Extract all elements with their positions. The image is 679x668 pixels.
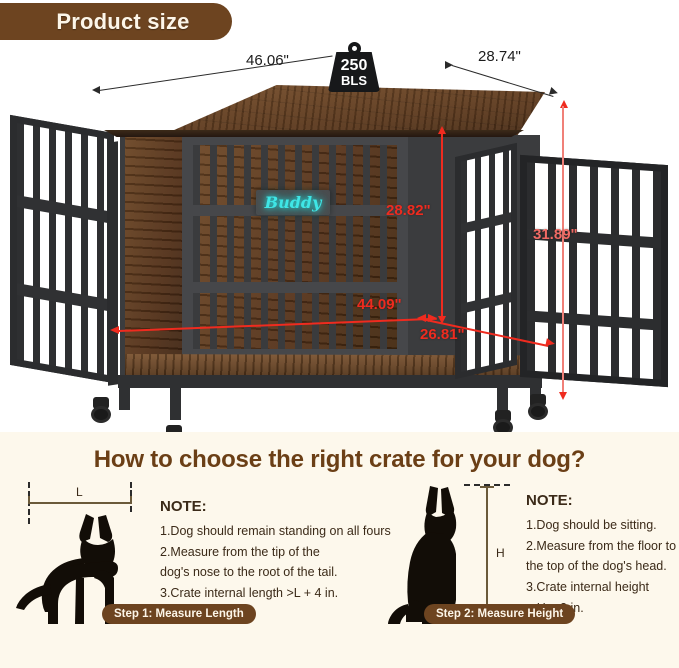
overall-height-label: 31.89" bbox=[533, 226, 578, 243]
interior-depth-label: 26.81" bbox=[420, 326, 465, 343]
product-infographic: Product size Buddy bbox=[0, 0, 679, 668]
door-bars bbox=[461, 150, 511, 372]
note-line: dog's nose to the root of the tail. bbox=[160, 562, 391, 583]
weight-value: 250 bbox=[341, 58, 368, 74]
interior-wood-panel-left bbox=[125, 137, 187, 374]
height-brace-cap-top bbox=[480, 486, 494, 488]
step-2-pill: Step 2: Measure Height bbox=[424, 604, 575, 624]
step-1-panel: L NOTE: 1.Dog should remain standing on … bbox=[8, 480, 358, 630]
nameplate-text: Buddy bbox=[265, 193, 322, 212]
step-2-label: Step 2: Measure Height bbox=[436, 608, 563, 620]
length-brace-cap-left bbox=[28, 496, 30, 504]
how-to-choose-title: How to choose the right crate for your d… bbox=[0, 446, 679, 474]
step-1-note: NOTE: 1.Dog should remain standing on al… bbox=[160, 498, 391, 604]
wood-tabletop bbox=[90, 85, 545, 135]
right-inner-open-door bbox=[455, 143, 517, 379]
step-2-note: NOTE: 1.Dog should be sitting. 2.Measure… bbox=[526, 492, 676, 618]
weight-capacity-icon: 250 BLS bbox=[326, 42, 382, 92]
interior-height-label: 28.82" bbox=[386, 202, 431, 219]
how-to-choose-section: How to choose the right crate for your d… bbox=[0, 432, 679, 668]
product-size-ribbon: Product size bbox=[0, 3, 232, 40]
width-dimension-label: 46.06" bbox=[246, 52, 289, 69]
step-2-panel: H NOTE: 1.Dog should be sitting. 2.Measu… bbox=[378, 480, 678, 630]
length-letter: L bbox=[76, 485, 83, 499]
weight-body: 250 BLS bbox=[328, 52, 380, 92]
note-line: the top of the dog's head. bbox=[526, 556, 676, 577]
door-bars bbox=[527, 162, 661, 379]
note-title: NOTE: bbox=[160, 498, 391, 515]
left-door-hinge-post bbox=[108, 141, 118, 385]
note-line: 3.Crate internal height bbox=[526, 577, 676, 598]
height-letter: H bbox=[496, 546, 505, 560]
caster-wheel bbox=[90, 397, 112, 423]
height-brace bbox=[486, 486, 488, 622]
product-size-label: Product size bbox=[42, 9, 189, 35]
length-brace-cap-right bbox=[130, 496, 132, 504]
interior-length-arrow-left bbox=[110, 326, 119, 334]
note-line: 2.Measure from the tip of the bbox=[160, 542, 391, 563]
nameplate: Buddy bbox=[256, 190, 330, 215]
length-brace bbox=[28, 502, 132, 504]
weight-unit: BLS bbox=[341, 74, 367, 87]
note-line: 1.Dog should remain standing on all four… bbox=[160, 521, 391, 542]
depth-dimension-label: 28.74" bbox=[478, 48, 521, 65]
note-line: 2.Measure from the floor to bbox=[526, 536, 676, 557]
overall-height-line bbox=[562, 106, 564, 394]
interior-length-label: 44.09" bbox=[357, 296, 402, 313]
step-1-label: Step 1: Measure Length bbox=[114, 608, 244, 620]
leg bbox=[119, 378, 130, 410]
note-title: NOTE: bbox=[526, 492, 676, 509]
overall-height-arrow-bottom bbox=[559, 392, 567, 400]
right-outer-open-door bbox=[520, 155, 668, 387]
door-bars bbox=[17, 123, 107, 375]
leg bbox=[170, 382, 181, 420]
step-1-pill: Step 1: Measure Length bbox=[102, 604, 256, 624]
note-line: 1.Dog should be sitting. bbox=[526, 515, 676, 536]
left-open-door bbox=[10, 115, 114, 383]
wood-tabletop-edge bbox=[104, 130, 524, 137]
interior-height-line bbox=[441, 132, 443, 318]
front-door-rail bbox=[182, 282, 408, 293]
caster-wheel bbox=[527, 394, 549, 420]
product-size-section: Product size Buddy bbox=[0, 0, 679, 432]
note-line: 3.Crate internal length >L + 4 in. bbox=[160, 583, 391, 604]
base-frame bbox=[118, 375, 542, 388]
interior-depth-arrow-right bbox=[545, 338, 555, 348]
